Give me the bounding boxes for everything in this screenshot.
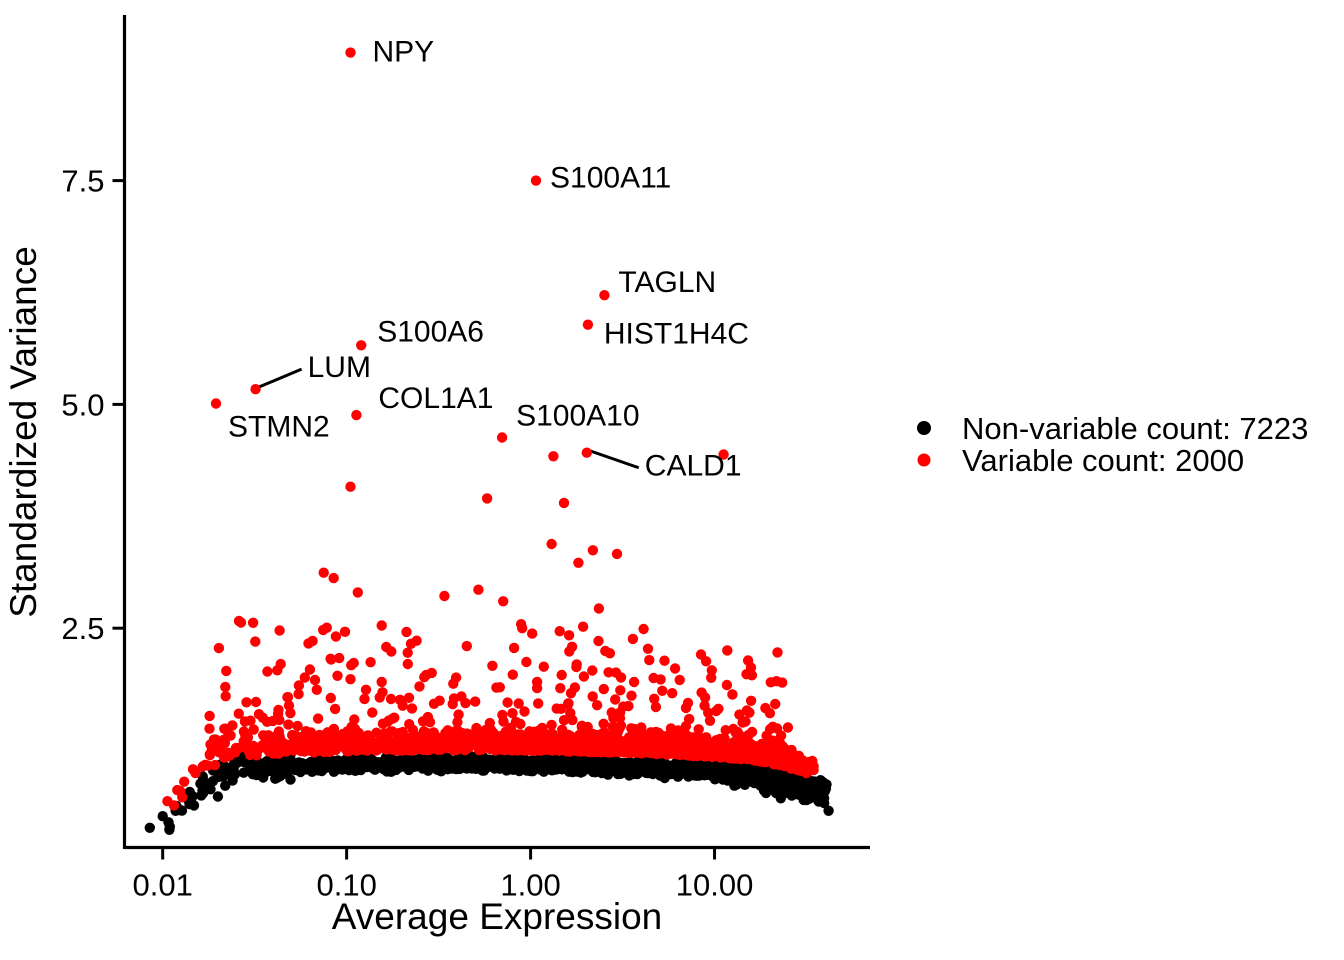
variable-point: [747, 727, 757, 737]
variable-point: [314, 746, 324, 756]
variable-point: [477, 744, 487, 754]
non-variable-point: [341, 760, 351, 770]
variable-point: [776, 730, 786, 740]
non-variable-point: [270, 774, 280, 784]
variable-point: [615, 685, 625, 695]
variable-point: [427, 668, 437, 678]
variable-point: [283, 719, 293, 729]
x-tick-label-3: 10.00: [676, 868, 754, 903]
variable-point: [397, 745, 407, 755]
gene-label-COL1A1: COL1A1: [378, 382, 493, 415]
variable-point: [302, 729, 312, 739]
variable-point: [214, 643, 224, 653]
variable-point: [460, 698, 470, 708]
variable-point: [227, 720, 237, 730]
variable-point: [411, 636, 421, 646]
non-variable-point: [823, 806, 833, 816]
variable-point: [701, 746, 711, 756]
non-variable-point: [516, 757, 526, 767]
variable-point: [312, 685, 322, 695]
variable-point: [349, 714, 359, 724]
non-variable-point: [729, 779, 739, 789]
variable-point: [440, 728, 450, 738]
variable-point: [651, 702, 661, 712]
variable-point: [283, 692, 293, 702]
variable-point: [418, 716, 428, 726]
gene-label-S100A11: S100A11: [550, 162, 671, 195]
variable-point: [559, 498, 569, 508]
variable-point: [509, 643, 519, 653]
variable-point: [559, 715, 569, 725]
variable-point: [681, 703, 691, 713]
legend-label-1: Variable count: 2000: [962, 443, 1244, 478]
variable-point: [251, 697, 261, 707]
variable-point: [273, 709, 283, 719]
variable-point: [548, 743, 558, 753]
non-variable-point: [581, 757, 591, 767]
variable-point: [210, 760, 220, 770]
gene-label-S100A10: S100A10: [516, 400, 639, 433]
variable-point-LUM: [250, 384, 260, 394]
variable-point: [765, 708, 775, 718]
variable-point: [205, 739, 215, 749]
variable-point: [422, 728, 432, 738]
variable-point: [789, 756, 799, 766]
y-tick-label-2: 7.5: [61, 164, 104, 199]
variable-point: [534, 729, 544, 739]
variable-point: [628, 634, 638, 644]
non-variable-point: [272, 758, 282, 768]
variable-point-S100A11: [531, 175, 541, 185]
non-variable-point: [379, 757, 389, 767]
variable-point: [403, 659, 413, 669]
variable-point: [803, 757, 813, 767]
variable-point: [488, 741, 498, 751]
variable-point: [624, 745, 634, 755]
variable-point: [605, 648, 615, 658]
variable-point: [770, 699, 780, 709]
non-variable-point: [615, 760, 625, 770]
variable-point: [612, 549, 622, 559]
variable-point: [407, 703, 417, 713]
variable-point: [329, 573, 339, 583]
variable-point-NPY: [345, 47, 355, 57]
variable-point: [403, 735, 413, 745]
variable-point: [330, 704, 340, 714]
variable-point: [722, 680, 732, 690]
variable-point: [292, 741, 302, 751]
variable-point: [314, 730, 324, 740]
variable-point: [592, 700, 602, 710]
variable-point: [454, 727, 464, 737]
scatter-plot-canvas: 0.010.101.0010.00 2.55.07.5 NPYS100A11TA…: [0, 0, 1344, 960]
variable-point-STMN2: [211, 398, 221, 408]
legend-marker-1: [918, 454, 931, 467]
variable-point: [670, 663, 680, 673]
variable-point: [248, 618, 258, 628]
variable-point: [395, 695, 405, 705]
variable-point: [367, 707, 377, 717]
variable-point: [533, 698, 543, 708]
variable-point: [345, 674, 355, 684]
non-variable-point: [776, 793, 786, 803]
variable-point: [502, 697, 512, 707]
x-tick-label-0: 0.01: [133, 868, 193, 903]
gene-label-TAGLN: TAGLN: [618, 266, 716, 299]
variable-point: [591, 747, 601, 757]
variable-point: [626, 691, 636, 701]
variable-point: [747, 746, 757, 756]
variable-point-HIST1H4C: [583, 320, 593, 330]
variable-point-S100A10: [497, 432, 507, 442]
variable-point: [563, 730, 573, 740]
variable-point: [331, 631, 341, 641]
variable-point: [204, 711, 214, 721]
variable-point: [552, 703, 562, 713]
variable-point: [684, 714, 694, 724]
non-variable-point: [817, 780, 827, 790]
variable-point: [555, 683, 565, 693]
variable-point: [599, 684, 609, 694]
variable-point: [376, 742, 386, 752]
variable-point: [563, 699, 573, 709]
non-variable-point: [158, 811, 168, 821]
variable-point: [470, 696, 480, 706]
variable-point: [221, 666, 231, 676]
variable-point: [524, 726, 534, 736]
variable-point: [241, 697, 251, 707]
variable-point: [485, 718, 495, 728]
variable-point: [680, 729, 690, 739]
variable-point: [292, 721, 302, 731]
variable-point: [221, 691, 231, 701]
variable-point: [401, 627, 411, 637]
variable-point: [521, 657, 531, 667]
variable-point: [781, 745, 791, 755]
variable-point: [643, 644, 653, 654]
variable-point: [731, 751, 741, 761]
variable-point: [452, 717, 462, 727]
variable-point: [555, 626, 565, 636]
variable-point: [438, 740, 448, 750]
legend-label-0: Non-variable count: 7223: [962, 411, 1308, 446]
variable-point: [403, 648, 413, 658]
non-variable-point: [704, 761, 714, 771]
non-variable-point: [713, 771, 723, 781]
variable-point: [609, 745, 619, 755]
x-axis-title: Average Expression: [332, 896, 662, 937]
variable-point: [716, 735, 726, 745]
non-variable-point: [164, 825, 174, 835]
variable-point: [200, 760, 210, 770]
non-variable-point: [442, 756, 452, 766]
non-variable-point: [718, 763, 728, 773]
non-variable-point: [792, 784, 802, 794]
variable-point: [603, 667, 613, 677]
variable-point: [659, 656, 669, 666]
variable-point: [272, 732, 282, 742]
variable-point: [361, 685, 371, 695]
variable-point: [326, 693, 336, 703]
variable-point: [310, 675, 320, 685]
variable-point: [219, 752, 229, 762]
variable-point: [594, 603, 604, 613]
variable-point: [537, 742, 547, 752]
variable-point: [326, 654, 336, 664]
variable-point: [346, 660, 356, 670]
variable-point: [177, 792, 187, 802]
variable-point: [722, 645, 732, 655]
variable-point: [250, 636, 260, 646]
variable-point: [274, 625, 284, 635]
variable-point: [696, 687, 706, 697]
variable-point: [557, 670, 567, 680]
non-variable-point: [781, 774, 791, 784]
non-variable-point: [301, 764, 311, 774]
variable-point: [448, 679, 458, 689]
gene-label-S100A6: S100A6: [377, 315, 484, 348]
variable-point: [713, 704, 723, 714]
variable-point: [508, 670, 518, 680]
gene-label-LUM: LUM: [308, 351, 371, 384]
variable-point: [721, 725, 731, 735]
non-variable-point: [195, 779, 205, 789]
non-variable-point: [691, 765, 701, 775]
non-variable-point: [537, 759, 547, 769]
variable-point: [204, 724, 214, 734]
variable-point: [322, 623, 332, 633]
variable-point: [386, 646, 396, 656]
variable-point: [727, 689, 737, 699]
variable-point: [616, 672, 626, 682]
variable-point: [547, 729, 557, 739]
variable-point: [569, 744, 579, 754]
variable-point: [629, 677, 639, 687]
variable-point: [239, 726, 249, 736]
variable-point: [377, 620, 387, 630]
variable-point: [644, 655, 654, 665]
variable-point: [746, 696, 756, 706]
non-variable-point: [557, 762, 567, 772]
variable-point: [701, 656, 711, 666]
variable-point: [694, 724, 704, 734]
variable-point: [588, 691, 598, 701]
variable-point: [532, 677, 542, 687]
variable-point: [179, 777, 189, 787]
variable-point: [352, 738, 362, 748]
variable-point: [636, 722, 646, 732]
variable-point: [608, 722, 618, 732]
non-variable-point: [801, 795, 811, 805]
variable-point: [579, 671, 589, 681]
variable-point: [332, 671, 342, 681]
non-variable-point: [227, 775, 237, 785]
variable-point: [434, 696, 444, 706]
variable-point: [169, 800, 179, 810]
variable-point-S100A6: [356, 340, 366, 350]
variable-point: [546, 539, 556, 549]
variable-point-COL1A1: [351, 410, 361, 420]
variable-point: [564, 630, 574, 640]
variable-point: [340, 627, 350, 637]
variable-point: [220, 682, 230, 692]
variable-point: [303, 638, 313, 648]
variable-point: [345, 482, 355, 492]
non-variable-point: [145, 823, 155, 833]
variable-point: [514, 698, 524, 708]
variable-point: [331, 745, 341, 755]
variable-point: [743, 655, 753, 665]
variable-point: [414, 681, 424, 691]
variable-point: [272, 665, 282, 675]
variable-point: [675, 750, 685, 760]
variable-point: [546, 720, 556, 730]
variable-point: [385, 726, 395, 736]
non-variable-point: [639, 762, 649, 772]
variable-point: [329, 724, 339, 734]
variable-point: [548, 451, 558, 461]
variable-point: [593, 636, 603, 646]
variable-point: [666, 723, 676, 733]
variable-point: [572, 659, 582, 669]
variable-point: [539, 662, 549, 672]
variable-point: [527, 628, 537, 638]
variable-point: [291, 731, 301, 741]
variable-point: [294, 680, 304, 690]
variable-point: [742, 705, 752, 715]
variable-point: [595, 731, 605, 741]
variable-point: [375, 692, 385, 702]
variable-point: [449, 693, 459, 703]
non-variable-point: [761, 788, 771, 798]
variable-point: [359, 694, 369, 704]
variable-point: [190, 768, 200, 778]
non-variable-point: [189, 800, 199, 810]
variable-point: [741, 669, 751, 679]
variable-point: [439, 591, 449, 601]
non-variable-point: [229, 766, 239, 776]
non-variable-point: [281, 765, 291, 775]
non-variable-point: [500, 758, 510, 768]
gene-label-HIST1H4C: HIST1H4C: [604, 318, 749, 351]
variable-point: [515, 719, 525, 729]
variable-point: [467, 740, 477, 750]
variable-point: [219, 735, 229, 745]
variable-point: [473, 585, 483, 595]
variable-point: [384, 715, 394, 725]
variable-point: [657, 686, 667, 696]
variable-point: [570, 682, 580, 692]
variable-point: [495, 682, 505, 692]
variable-point: [377, 677, 387, 687]
variable-point: [234, 616, 244, 626]
variable-point: [408, 725, 418, 735]
variable-point: [353, 587, 363, 597]
y-tick-label-1: 5.0: [61, 387, 104, 422]
variable-point: [742, 736, 752, 746]
variable-point: [647, 732, 657, 742]
variable-point: [587, 665, 597, 675]
variable-point: [564, 646, 574, 656]
non-variable-point: [251, 770, 261, 780]
variable-point: [755, 756, 765, 766]
variable-point: [588, 545, 598, 555]
variable-point: [507, 741, 517, 751]
non-variable-point: [326, 762, 336, 772]
variable-point-CALD1: [582, 448, 592, 458]
variable-point: [655, 674, 665, 684]
variable-point: [675, 675, 685, 685]
variable-point: [706, 673, 716, 683]
variable-point: [240, 716, 250, 726]
variable-point: [386, 694, 396, 704]
y-axis-title: Standardized Variance: [3, 246, 44, 618]
variable-point: [638, 624, 648, 634]
variable-point: [623, 701, 633, 711]
variable-point: [573, 558, 583, 568]
variable-point-TAGLN: [599, 290, 609, 300]
variable-point: [783, 722, 793, 732]
gene-label-NPY: NPY: [373, 36, 435, 69]
non-variable-point: [213, 791, 223, 801]
y-tick-label-0: 2.5: [61, 611, 104, 646]
variable-point: [772, 647, 782, 657]
variable-point: [639, 747, 649, 757]
variable-features-plot: 0.010.101.0010.00 2.55.07.5 NPYS100A11TA…: [0, 0, 1344, 960]
variable-point: [482, 493, 492, 503]
variable-point: [721, 745, 731, 755]
variable-point: [667, 688, 677, 698]
variable-point: [497, 710, 507, 720]
variable-point: [471, 723, 481, 733]
variable-point: [771, 676, 781, 686]
variable-point: [262, 666, 272, 676]
non-variable-point: [464, 759, 474, 769]
gene-label-CALD1: CALD1: [645, 450, 742, 483]
variable-point: [761, 731, 771, 741]
non-variable-point: [659, 765, 669, 775]
variable-point: [498, 596, 508, 606]
variable-point: [705, 716, 715, 726]
variable-point: [462, 641, 472, 651]
variable-point: [610, 694, 620, 704]
legend-marker-0: [917, 421, 931, 435]
variable-point: [487, 661, 497, 671]
variable-point: [365, 657, 375, 667]
variable-point: [258, 713, 268, 723]
variable-point: [487, 728, 497, 738]
non-variable-point: [763, 774, 773, 784]
non-variable-point: [569, 758, 579, 768]
non-variable-point: [482, 761, 492, 771]
variable-point: [578, 622, 588, 632]
non-variable-point: [748, 765, 758, 775]
variable-point: [758, 744, 768, 754]
variable-point: [313, 713, 323, 723]
non-variable-point: [413, 759, 423, 769]
non-variable-point: [398, 760, 408, 770]
gene-label-STMN2: STMN2: [228, 411, 330, 444]
variable-point: [505, 729, 515, 739]
variable-point: [263, 730, 273, 740]
variable-point: [319, 568, 329, 578]
variable-point: [740, 716, 750, 726]
variable-point: [577, 721, 587, 731]
variable-point: [447, 742, 457, 752]
non-variable-point: [361, 761, 371, 771]
variable-point: [517, 623, 527, 633]
